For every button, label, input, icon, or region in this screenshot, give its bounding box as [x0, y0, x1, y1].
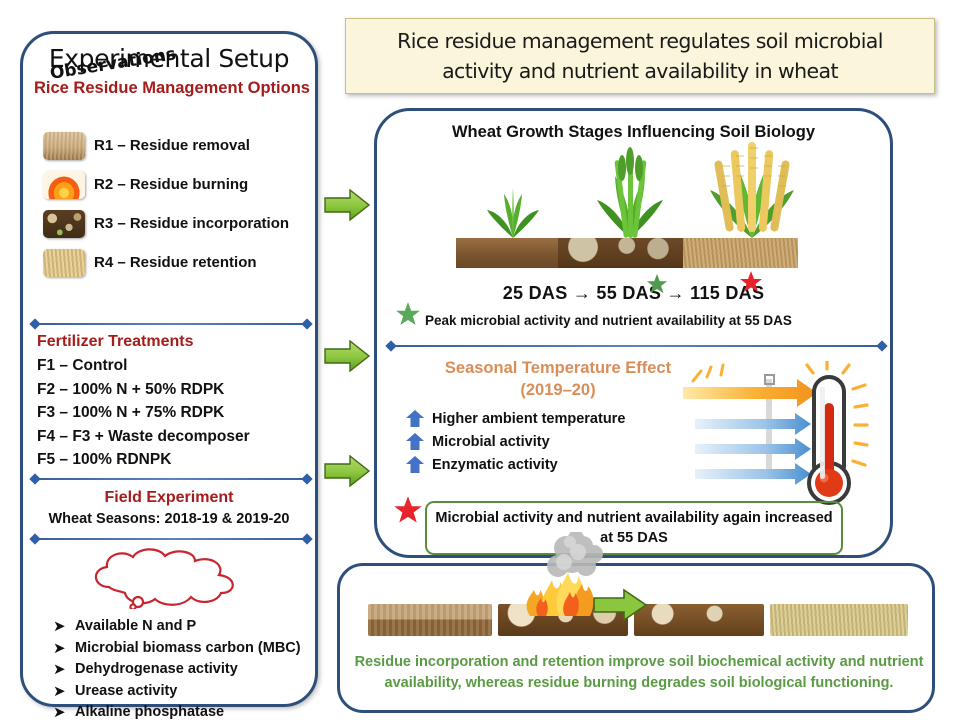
experimental-setup-panel: Experimental Setup Rice Residue Manageme…: [20, 31, 318, 707]
temperature-effects-list: Higher ambient temperature Microbial act…: [405, 407, 625, 476]
arrow-bullet-icon: ➤: [53, 616, 75, 638]
green-star-icon-peak: [395, 301, 421, 327]
temperature-effect-label: Higher ambient temperature: [432, 411, 625, 427]
list-item: R2 – Residue burning: [35, 165, 321, 204]
residue-option-label: R4 – Residue retention: [94, 254, 257, 271]
green-star-icon-55das: [646, 273, 668, 295]
soil-regrowth-illustration: [634, 604, 764, 636]
observation-label: Dehydrogenase activity: [75, 659, 238, 681]
soil-removed-thumbnail: [43, 132, 85, 160]
callout-box: Microbial activity and nutrient availabi…: [425, 501, 843, 555]
soil-segment-25das: [456, 238, 558, 268]
observation-label: Available N and P: [75, 616, 196, 638]
soil-retained-straw-illustration: [770, 604, 908, 636]
title-banner: Rice residue management regulates soil m…: [345, 18, 935, 94]
list-item: R4 – Residue retention: [35, 243, 321, 282]
flow-arrow-icon-bottom: [324, 455, 370, 487]
conclusion-text: Residue incorporation and retention impr…: [354, 652, 924, 694]
residue-options-list: R1 – Residue removal R2 – Residue burnin…: [35, 126, 321, 282]
list-item: ➤ Urease activity: [53, 681, 321, 703]
fertilizer-heading: Fertilizer Treatments: [37, 333, 194, 351]
flow-arrow-icon-top: [324, 189, 370, 221]
arrow-bullet-icon: ➤: [53, 659, 75, 681]
list-item: F5 – 100% RDNPK: [37, 448, 317, 472]
arrow-bullet-icon: ➤: [53, 702, 75, 724]
field-experiment-heading: Field Experiment: [23, 489, 315, 507]
list-item: F4 – F3 + Waste decomposer: [37, 425, 317, 449]
growth-stages-heading: Wheat Growth Stages Influencing Soil Bio…: [377, 123, 890, 142]
section-divider: [387, 341, 886, 351]
wheat-growth-illustration: [456, 238, 798, 268]
list-item: Microbial activity: [405, 430, 625, 453]
retained-straw-thumbnail: [43, 249, 85, 277]
seasonal-temperature-heading: Seasonal Temperature Effect (2019–20): [413, 357, 703, 401]
observation-label: Microbial biomass carbon (MBC): [75, 638, 301, 660]
temperature-effect-label: Enzymatic activity: [432, 457, 558, 473]
red-star-icon-note: [393, 495, 423, 525]
observation-label: Urease activity: [75, 681, 177, 703]
flow-arrow-icon-conclusion: [592, 588, 648, 622]
fire-thumbnail: [43, 171, 85, 199]
callout-text: Microbial activity and nutrient availabi…: [427, 508, 841, 548]
seasonal-title-text: Seasonal Temperature Effect: [445, 359, 671, 377]
list-item: R3 – Residue incorporation: [35, 204, 321, 243]
conclusion-panel: Residue incorporation and retention impr…: [337, 563, 935, 713]
flow-arrow-icon-middle: [324, 340, 370, 372]
wheat-seedling-25das-icon: [484, 182, 542, 238]
list-item: F2 – 100% N + 50% RDPK: [37, 378, 317, 402]
residue-option-label: R1 – Residue removal: [94, 137, 250, 154]
seasonal-year-text: (2019–20): [520, 381, 595, 399]
observations-cloud-icon: [83, 547, 263, 609]
observation-label: Alkaline phosphatase: [75, 702, 224, 724]
smoke-icon: [536, 532, 616, 578]
banner-title-text: Rice residue management regulates soil m…: [360, 26, 920, 86]
list-item: ➤ Available N and P: [53, 616, 321, 638]
list-item: ➤ Alkaline phosphatase: [53, 702, 321, 724]
residue-management-heading: Rice Residue Management Options: [33, 78, 311, 99]
incorporated-soil-thumbnail: [43, 210, 85, 238]
observations-list: ➤ Available N and P ➤ Microbial biomass …: [53, 616, 321, 724]
list-item: F1 – Control: [37, 354, 317, 378]
wheat-tillering-55das-icon: [594, 146, 666, 238]
section-divider: [31, 534, 311, 544]
peak-activity-note: Peak microbial activity and nutrient ava…: [425, 313, 792, 328]
soil-bare-illustration: [368, 604, 492, 636]
thermometer-icon: [677, 361, 872, 511]
red-star-icon-115das: [739, 270, 763, 294]
up-arrow-icon: [405, 410, 425, 427]
section-divider: [31, 319, 311, 329]
residue-option-label: R2 – Residue burning: [94, 176, 248, 193]
residue-option-label: R3 – Residue incorporation: [94, 215, 289, 232]
results-panel: Wheat Growth Stages Influencing Soil Bio…: [374, 108, 893, 558]
list-item: Higher ambient temperature: [405, 407, 625, 430]
das-sequence-label: 25 DAS → 55 DAS → 115 DAS: [377, 283, 890, 304]
wheat-mature-115das-icon: [704, 126, 800, 238]
wheat-seasons-label: Wheat Seasons: 2018-19 & 2019-20: [23, 511, 315, 527]
arrow-bullet-icon: ➤: [53, 681, 75, 703]
list-item: F3 – 100% N + 75% RDPK: [37, 401, 317, 425]
list-item: ➤ Microbial biomass carbon (MBC): [53, 638, 321, 660]
list-item: ➤ Dehydrogenase activity: [53, 659, 321, 681]
section-divider: [31, 474, 311, 484]
temperature-effect-label: Microbial activity: [432, 434, 550, 450]
up-arrow-icon: [405, 433, 425, 450]
list-item: R1 – Residue removal: [35, 126, 321, 165]
soil-segment-115das: [683, 238, 798, 268]
up-arrow-icon: [405, 456, 425, 473]
soil-segment-55das: [558, 238, 683, 268]
list-item: Enzymatic activity: [405, 453, 625, 476]
fertilizer-options-list: F1 – Control F2 – 100% N + 50% RDPK F3 –…: [37, 354, 317, 472]
arrow-bullet-icon: ➤: [53, 638, 75, 660]
